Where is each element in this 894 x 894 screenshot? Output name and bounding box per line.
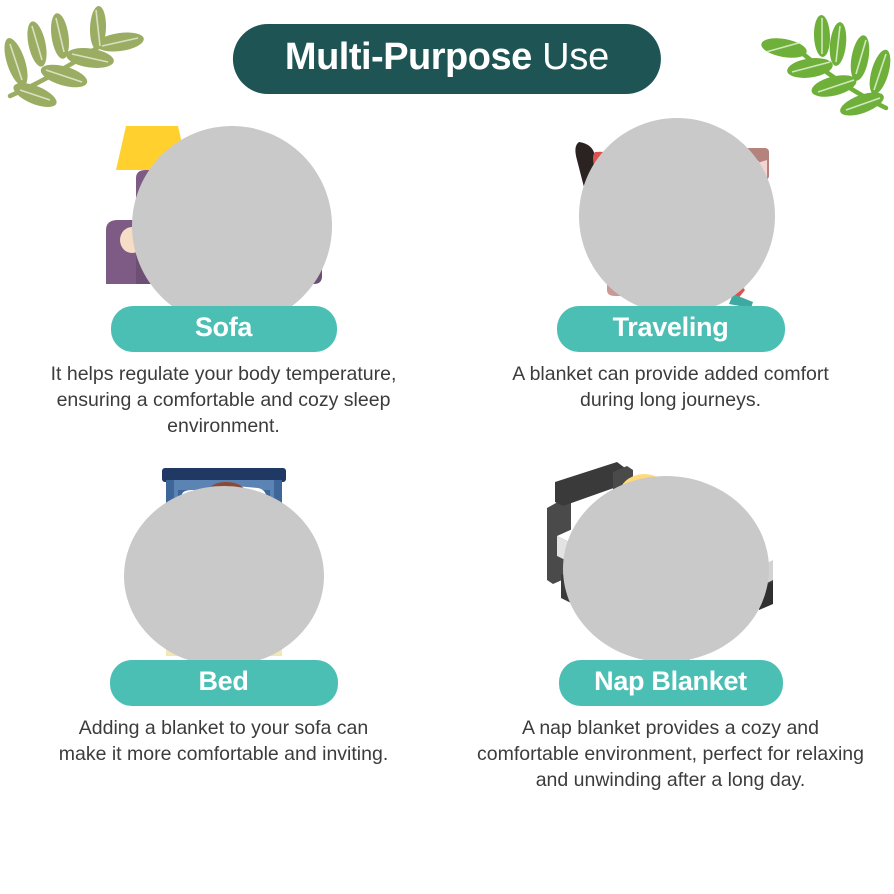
feature-grid: Sofa It helps regulate your body tempera…	[0, 108, 894, 808]
feature-card-bed: Bed Adding a blanket to your sofa can ma…	[0, 458, 447, 808]
feature-card-sofa: Sofa It helps regulate your body tempera…	[0, 108, 447, 458]
description-bed: Adding a blanket to your sofa can make i…	[59, 716, 389, 768]
page-title-bold: Multi-Purpose	[285, 36, 532, 78]
illustration-nap-blanket	[521, 464, 821, 664]
infographic-page: Multi-Purpose Use	[0, 0, 894, 894]
description-nap-blanket: A nap blanket provides a cozy and comfor…	[471, 716, 871, 794]
label-pill-sofa: Sofa	[111, 306, 337, 352]
page-title-light: Use	[532, 36, 609, 78]
label-pill-nap-blanket: Nap Blanket	[559, 660, 783, 706]
illustration-sofa	[74, 112, 374, 312]
label-pill-bed: Bed	[110, 660, 338, 706]
backdrop-circle	[132, 126, 332, 326]
illustration-bed	[74, 464, 374, 664]
illustration-traveling	[521, 112, 821, 312]
description-sofa: It helps regulate your body temperature,…	[34, 362, 414, 440]
page-title-banner: Multi-Purpose Use	[233, 24, 661, 94]
backdrop-circle	[124, 486, 324, 666]
label-pill-traveling: Traveling	[557, 306, 785, 352]
description-traveling: A blanket can provide added comfort duri…	[506, 362, 836, 414]
backdrop-circle	[563, 476, 769, 662]
backdrop-circle	[579, 118, 775, 314]
feature-card-traveling: Traveling A blanket can provide added co…	[447, 108, 894, 458]
feature-card-nap-blanket: Nap Blanket A nap blanket provides a coz…	[447, 458, 894, 808]
